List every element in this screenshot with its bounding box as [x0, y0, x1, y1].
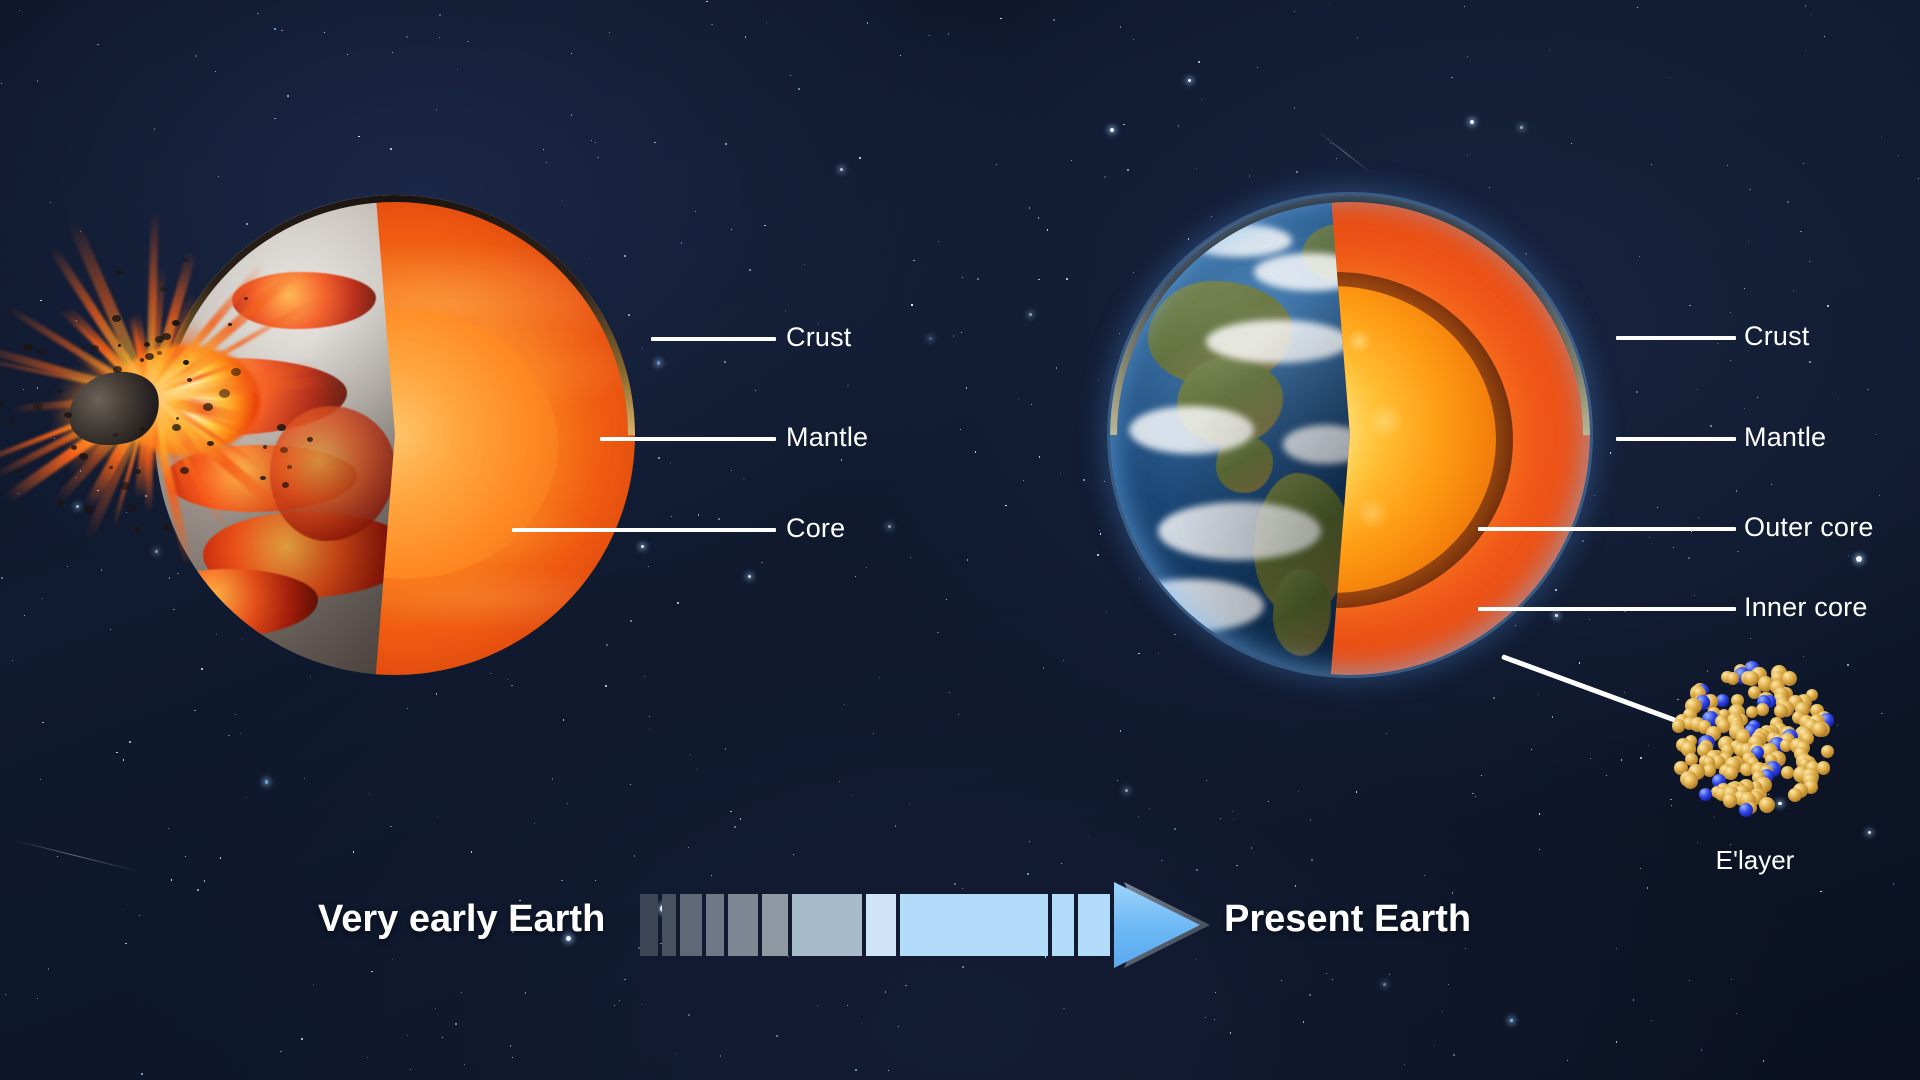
light-element-atom [1739, 803, 1754, 818]
iron-atom [1724, 766, 1739, 781]
label-outer-core: Outer core [1744, 514, 1874, 541]
iron-atom [1821, 745, 1834, 758]
impactor-asteroid [61, 363, 168, 455]
leader-line-core-left [512, 528, 776, 532]
iron-atom [1788, 788, 1803, 803]
iron-atom [1759, 797, 1775, 813]
leader-line-e-layer [1501, 654, 1676, 723]
iron-atom [1683, 774, 1698, 789]
light-element-atom [1716, 694, 1729, 707]
leader-line-crust-left [651, 337, 776, 341]
label-mantle-left: Mantle [786, 424, 868, 451]
arrow-head [1114, 882, 1200, 968]
label-crust-right: Crust [1744, 323, 1810, 350]
iron-atom [1727, 672, 1740, 685]
iron-atom [1672, 719, 1686, 733]
timeline-segment [728, 894, 758, 956]
e-layer-atomic-cluster [1665, 660, 1840, 820]
timeline-start-label: Very early Earth [318, 898, 605, 941]
present-earth-globe [1110, 195, 1590, 675]
timeline-segment [706, 894, 724, 956]
very-early-earth-globe [155, 195, 635, 675]
label-e-layer: E'layer [1650, 845, 1860, 876]
leader-line-inner-core [1478, 607, 1736, 611]
label-mantle-right: Mantle [1744, 424, 1826, 451]
timeline-segment [1078, 894, 1110, 956]
leader-line-crust-right [1616, 336, 1736, 340]
label-inner-core: Inner core [1744, 594, 1868, 621]
iron-atom [1723, 793, 1738, 808]
timeline-segment [1052, 894, 1074, 956]
timeline-segment [900, 894, 1048, 956]
leader-line-mantle-right [1616, 437, 1736, 441]
timeline-segment [640, 894, 658, 956]
timeline-segment [762, 894, 788, 956]
timeline-segment [680, 894, 702, 956]
iron-atom [1774, 704, 1788, 718]
iron-atom [1817, 761, 1830, 774]
early-crust-rim [155, 195, 635, 675]
timeline-segment [792, 894, 862, 956]
label-core-left: Core [786, 515, 845, 542]
timeline-segment [662, 894, 676, 956]
figure-canvas: Crust Mantle Core [0, 0, 1920, 1080]
atmosphere-limb [1107, 192, 1593, 678]
timeline-segment [866, 894, 896, 956]
leader-line-outer-core [1478, 527, 1736, 531]
iron-atom [1781, 766, 1794, 779]
leader-line-mantle-left [600, 437, 776, 441]
label-crust-left: Crust [786, 324, 852, 351]
timeline-end-label: Present Earth [1224, 898, 1471, 941]
evolution-timeline-arrow [640, 894, 1210, 956]
light-element-atom [1699, 788, 1713, 802]
